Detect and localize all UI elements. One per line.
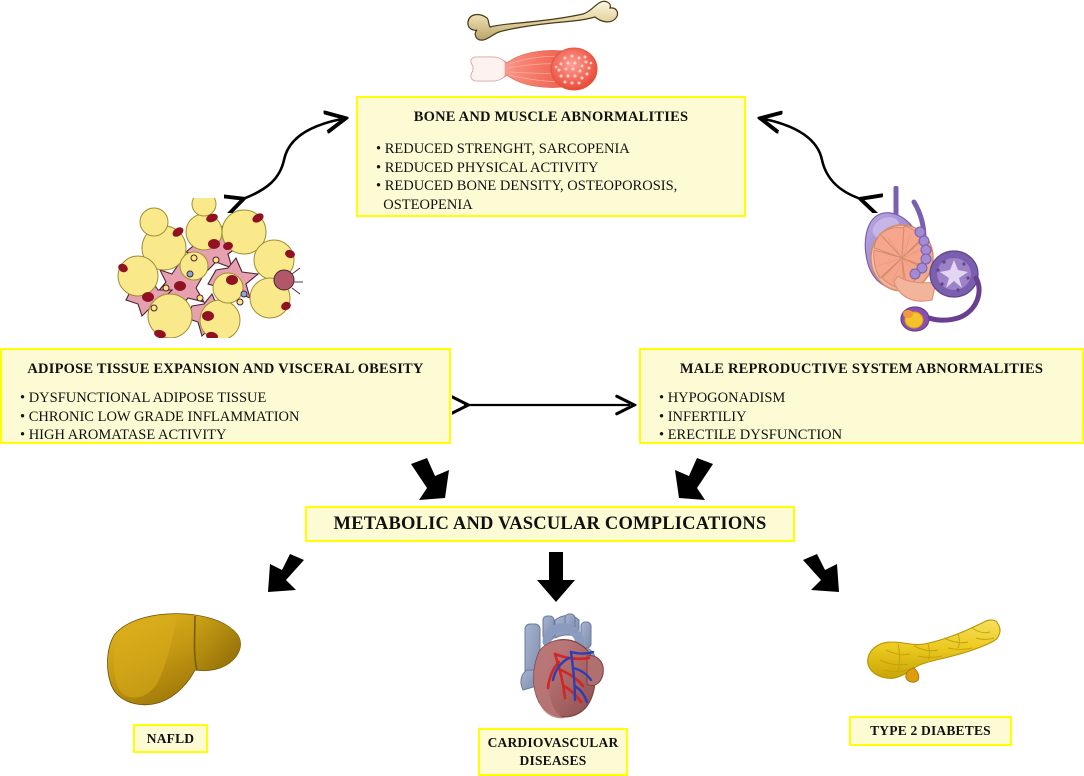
- bullet-item: ERECTILE DYSFUNCTION: [659, 426, 1082, 445]
- fatty-liver-illustration: [103, 608, 248, 712]
- bidirectional-curved-arrow-bone-adipose: [224, 108, 369, 213]
- bullet-item: REDUCED BONE DENSITY, OSTEOPOROSIS, OSTE…: [376, 177, 744, 214]
- box-male-title: MALE REPRODUCTIVE SYSTEM ABNORMALITIES: [641, 361, 1082, 378]
- box-male-reproductive-system-abnormalities: MALE REPRODUCTIVE SYSTEM ABNORMALITIES H…: [639, 348, 1084, 444]
- bullet-item: REDUCED STRENGHT, SARCOPENIA: [376, 140, 744, 159]
- block-arrow-metabolic-to-diabetes: [797, 550, 849, 602]
- heart-illustration: [503, 608, 615, 726]
- bidirectional-curved-arrow-bone-testis: [748, 108, 883, 213]
- box-nafld-title: NAFLD: [147, 731, 195, 747]
- box-type2-diabetes-title: TYPE 2 DIABETES: [870, 723, 991, 739]
- box-metabolic-title: METABOLIC AND VASCULAR COMPLICATIONS: [334, 514, 767, 535]
- bidirectional-horizontal-arrow: [452, 390, 642, 420]
- bullet-item: CHRONIC LOW GRADE INFLAMMATION: [20, 408, 449, 427]
- box-adipose-bullets: DYSFUNCTIONAL ADIPOSE TISSUE CHRONIC LOW…: [20, 389, 449, 445]
- block-arrow-adipose-to-metabolic: [405, 456, 461, 506]
- box-bone-bullets: REDUCED STRENGHT, SARCOPENIA REDUCED PHY…: [376, 140, 744, 214]
- box-nafld: NAFLD: [133, 724, 208, 753]
- box-metabolic-and-vascular-complications: METABOLIC AND VASCULAR COMPLICATIONS: [305, 506, 795, 542]
- bullet-item: DYSFUNCTIONAL ADIPOSE TISSUE: [20, 389, 449, 408]
- box-type-2-diabetes: TYPE 2 DIABETES: [849, 716, 1012, 746]
- adipose-tissue-illustration: [108, 198, 304, 338]
- box-cardiovascular-title: CARDIOVASCULAR DISEASES: [488, 734, 619, 770]
- diagram-canvas: BONE AND MUSCLE ABNORMALITIES REDUCED ST…: [0, 0, 1084, 776]
- pancreas-illustration: [858, 612, 1006, 690]
- bullet-item: INFERTILIY: [659, 408, 1082, 427]
- box-adipose-tissue-expansion: ADIPOSE TISSUE EXPANSION AND VISCERAL OB…: [0, 348, 451, 444]
- box-male-bullets: HYPOGONADISM INFERTILIY ERECTILE DYSFUNC…: [659, 389, 1082, 445]
- block-arrow-male-to-metabolic: [663, 456, 719, 506]
- box-cardiovascular-diseases: CARDIOVASCULAR DISEASES: [478, 728, 628, 776]
- bone-and-muscle-illustration: [455, 0, 640, 92]
- bullet-item: REDUCED PHYSICAL ACTIVITY: [376, 159, 744, 178]
- box-bone-title: BONE AND MUSCLE ABNORMALITIES: [358, 109, 744, 126]
- box-bone-and-muscle-abnormalities: BONE AND MUSCLE ABNORMALITIES REDUCED ST…: [356, 96, 746, 217]
- box-adipose-title: ADIPOSE TISSUE EXPANSION AND VISCERAL OB…: [2, 361, 449, 378]
- bullet-item: HYPOGONADISM: [659, 389, 1082, 408]
- block-arrow-metabolic-to-nafld: [258, 550, 310, 602]
- block-arrow-metabolic-to-cardiovascular: [534, 550, 578, 606]
- bullet-item: HIGH AROMATASE ACTIVITY: [20, 426, 449, 445]
